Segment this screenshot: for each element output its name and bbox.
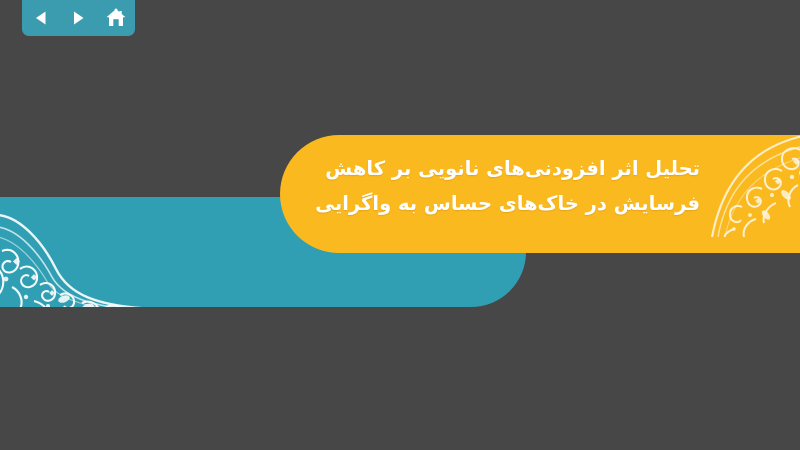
- triangle-right-icon: [69, 9, 87, 27]
- arabesque-corner-ornament-orange: [690, 135, 800, 237]
- forward-button[interactable]: [64, 5, 92, 31]
- triangle-left-icon: [32, 9, 50, 27]
- navigation-bar: [22, 0, 135, 36]
- back-button[interactable]: [27, 5, 55, 31]
- slide-title: تحلیل اثر افزودنی‌های نانویی بر کاهش فرس…: [370, 151, 700, 221]
- slide-canvas: تحلیل اثر افزودنی‌های نانویی بر کاهش فرس…: [0, 0, 800, 450]
- home-icon: [105, 8, 127, 28]
- slide-title-line-2: فرسایش در خاک‌های حساس به واگرایی: [370, 186, 700, 221]
- home-button[interactable]: [102, 5, 130, 31]
- arabesque-corner-ornament-teal: [0, 207, 158, 307]
- orange-banner: تحلیل اثر افزودنی‌های نانویی بر کاهش فرس…: [280, 135, 800, 253]
- slide-title-line-1: تحلیل اثر افزودنی‌های نانویی بر کاهش: [370, 151, 700, 186]
